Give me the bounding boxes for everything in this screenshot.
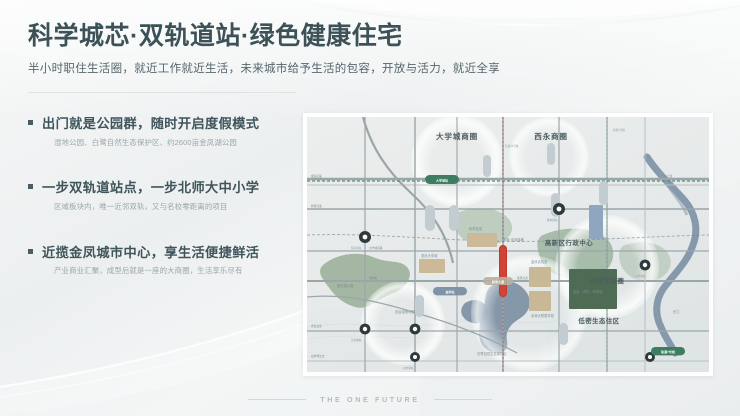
footer-rule-right xyxy=(434,399,492,400)
map-panel: 大学城站 金凤站 轨道7号线 科学大道 大学城商圈 西永商圈 沙坪坝商圈 xyxy=(303,113,713,376)
station-label: 金凤站 xyxy=(444,289,454,294)
poi-label: 金凤实验室 xyxy=(531,259,547,264)
station-label: 大学城站 xyxy=(436,178,448,183)
poi-label: 科学会堂 xyxy=(469,226,482,231)
station-pill: 金凤站 xyxy=(433,287,467,295)
station-label: 尖顶坡站 xyxy=(351,338,362,342)
poi-label: 含谷湿地公园 xyxy=(395,309,415,314)
station-pill: 大学城站 xyxy=(425,175,459,184)
rail-line-label: 轨道15号线 xyxy=(659,174,673,178)
feature-subtext: 湿地公园、白鹭自然生态保护区、约2600亩金凤湖公园 xyxy=(54,138,304,148)
list-item: 一步双轨道站点，一步北师大中小学 区域板块内，唯一近邻双轨，又与名校零距离的项目 xyxy=(28,179,304,212)
poi-label: 重庆大学城 xyxy=(421,253,438,258)
bullet-square-icon xyxy=(28,120,33,125)
district-label-diminzhuqu: 低密生态住区 xyxy=(577,316,619,325)
road-label: 金凤大道 xyxy=(517,276,528,280)
map-canvas: 大学城站 金凤站 轨道7号线 科学大道 大学城商圈 西永商圈 沙坪坝商圈 xyxy=(307,117,709,372)
road-label: 大学城南路 xyxy=(369,246,383,250)
project-label: 本案·金凤臻著 xyxy=(503,237,524,242)
rail-line-label: 轨道27号线 xyxy=(505,144,519,148)
road-label: 科学大道 xyxy=(492,279,504,284)
feature-subtext: 区域板块内，唯一近邻双轨，又与名校零距离的项目 xyxy=(54,202,304,212)
feature-heading: 一步双轨道站点，一步北师大中小学 xyxy=(42,179,304,197)
rail-line-label: 轨道1号线 xyxy=(613,128,625,132)
poi-label: 白鹭自然生态保护区 xyxy=(477,351,507,356)
road-label: 白市驿立交 xyxy=(311,354,325,358)
road-label: 含谷立交 xyxy=(311,324,322,328)
poi-label: 西部（重庆）科学城 xyxy=(573,289,603,294)
list-item: 出门就是公园群，随时开启度假模式 湿地公园、白鹭自然生态保护区、约2600亩金凤… xyxy=(28,115,304,148)
page-subtitle: 半小时职住生活圈，就近工作就近生活，未来城市给予生活的包容，开放与活力，就近全享 xyxy=(28,61,304,78)
poi-label: 北师大附属学校 xyxy=(531,313,555,318)
district-label-shapingba: 沙坪坝商圈 xyxy=(590,276,625,285)
rail-line-label: 轨道7号线 xyxy=(661,349,675,354)
station-label: 微电园站 xyxy=(547,218,558,222)
divider xyxy=(28,92,296,93)
feature-list: 出门就是公园群，随时开启度假模式 湿地公园、白鹭自然生态保护区、约2600亩金凤… xyxy=(28,115,304,277)
feature-heading: 出门就是公园群，随时开启度假模式 xyxy=(42,115,304,133)
station-pill: 轨道7号线 xyxy=(651,347,685,355)
feature-heading: 近揽金凤城市中心，享生活便捷鲜活 xyxy=(42,244,304,262)
station-label: 沙坪坝站 xyxy=(635,274,646,278)
district-label-gaoxin: 高新区行政中心 xyxy=(545,238,593,247)
poi-label: 长江 xyxy=(673,309,680,314)
road-label: 成渝高速 xyxy=(311,174,322,178)
station-label: 陈家桥站 xyxy=(351,246,362,250)
location-map: 大学城站 金凤站 轨道7号线 科学大道 大学城商圈 西永商圈 沙坪坝商圈 xyxy=(307,117,709,372)
district-label-xiyong: 西永商圈 xyxy=(534,131,568,141)
project-marker[interactable] xyxy=(499,245,507,297)
district-label-daxuecheng: 大学城商圈 xyxy=(436,131,478,141)
footer-rule-left xyxy=(248,399,306,400)
road-label: 绕城高速 xyxy=(311,204,322,208)
page-title: 科学城芯·双轨道站·绿色健康住宅 xyxy=(28,22,304,51)
bullet-square-icon xyxy=(28,184,33,189)
footer: THE ONE FUTURE xyxy=(0,395,740,404)
bullet-square-icon xyxy=(28,249,33,254)
station-label: 白市驿站 xyxy=(403,366,414,370)
station-pill: 科学大道 xyxy=(483,277,513,285)
feature-subtext: 产业商业汇聚，成型后就是一座的大商圈，生活享乐尽有 xyxy=(54,266,304,276)
station-label: 西永站 xyxy=(563,178,571,182)
footer-brand: THE ONE FUTURE xyxy=(320,395,420,404)
content-column: 科学城芯·双轨道站·绿色健康住宅 半小时职住生活圈，就近工作就近生活，未来城市给… xyxy=(28,22,304,277)
road-label: 凤中路 xyxy=(369,276,377,280)
list-item: 近揽金凤城市中心，享生活便捷鲜活 产业商业汇聚，成型后就是一座的大商圈，生活享乐… xyxy=(28,244,304,277)
poi-label: 金凤湖公园 xyxy=(337,283,353,288)
